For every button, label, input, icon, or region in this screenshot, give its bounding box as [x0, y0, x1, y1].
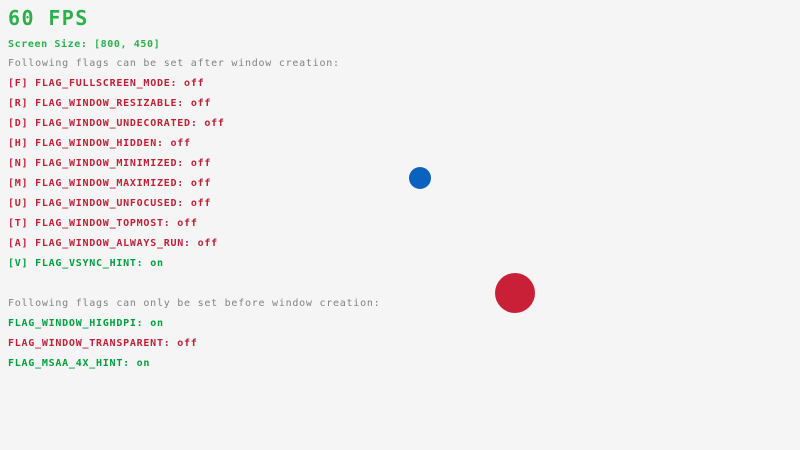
flag-key: [N]	[8, 158, 35, 169]
flag-value: off	[177, 338, 197, 349]
flag-key: [D]	[8, 118, 35, 129]
flag-name: FLAG_FULLSCREEN_MODE:	[35, 78, 184, 89]
flag-value: off	[184, 78, 204, 89]
flag-name: FLAG_WINDOW_TRANSPARENT:	[8, 338, 177, 349]
flag-name: FLAG_WINDOW_HIGHDPI:	[8, 318, 150, 329]
flag-row[interactable]: [M] FLAG_WINDOW_MAXIMIZED: off	[8, 179, 211, 189]
flag-row[interactable]: [R] FLAG_WINDOW_RESIZABLE: off	[8, 99, 211, 109]
flag-row[interactable]: [A] FLAG_WINDOW_ALWAYS_RUN: off	[8, 239, 218, 249]
flag-name: FLAG_WINDOW_RESIZABLE:	[35, 98, 191, 109]
flag-value: off	[177, 218, 197, 229]
flag-name: FLAG_WINDOW_UNDECORATED:	[35, 118, 204, 129]
flag-key: [R]	[8, 98, 35, 109]
fps-counter: 60 FPS	[8, 8, 89, 28]
flag-row[interactable]: [U] FLAG_WINDOW_UNFOCUSED: off	[8, 199, 211, 209]
flag-row[interactable]: [D] FLAG_WINDOW_UNDECORATED: off	[8, 119, 225, 129]
flag-value: off	[198, 238, 218, 249]
flag-value: off	[204, 118, 224, 129]
flag-key: [V]	[8, 258, 35, 269]
flag-value: on	[150, 318, 164, 329]
flag-name: FLAG_WINDOW_UNFOCUSED:	[35, 198, 191, 209]
flag-value: off	[191, 158, 211, 169]
flag-value: off	[191, 198, 211, 209]
flag-value: off	[171, 138, 191, 149]
flag-row[interactable]: [N] FLAG_WINDOW_MINIMIZED: off	[8, 159, 211, 169]
flag-key: [U]	[8, 198, 35, 209]
flag-name: FLAG_WINDOW_MAXIMIZED:	[35, 178, 191, 189]
red-ball-shape	[495, 273, 535, 313]
runtime-flags-heading: Following flags can be set after window …	[8, 59, 340, 69]
flag-name: FLAG_WINDOW_HIDDEN:	[35, 138, 170, 149]
flag-name: FLAG_WINDOW_MINIMIZED:	[35, 158, 191, 169]
flag-key: [M]	[8, 178, 35, 189]
blue-ball-shape	[409, 167, 431, 189]
flag-name: FLAG_WINDOW_ALWAYS_RUN:	[35, 238, 198, 249]
flag-key: [T]	[8, 218, 35, 229]
flag-name: FLAG_VSYNC_HINT:	[35, 258, 150, 269]
flag-row[interactable]: FLAG_WINDOW_HIGHDPI: on	[8, 319, 164, 329]
flag-row[interactable]: [F] FLAG_FULLSCREEN_MODE: off	[8, 79, 204, 89]
flag-value: on	[137, 358, 151, 369]
flag-value: off	[191, 98, 211, 109]
flag-row[interactable]: [T] FLAG_WINDOW_TOPMOST: off	[8, 219, 198, 229]
creation-flags-heading: Following flags can only be set before w…	[8, 299, 380, 309]
flag-key: [A]	[8, 238, 35, 249]
raylib-window-canvas: 60 FPS Screen Size: [800, 450] Following…	[0, 0, 800, 450]
screen-size-label: Screen Size: [800, 450]	[8, 40, 160, 50]
flag-name: FLAG_MSAA_4X_HINT:	[8, 358, 137, 369]
flag-row[interactable]: FLAG_WINDOW_TRANSPARENT: off	[8, 339, 198, 349]
flag-key: [F]	[8, 78, 35, 89]
flag-value: on	[150, 258, 164, 269]
flag-value: off	[191, 178, 211, 189]
flag-key: [H]	[8, 138, 35, 149]
flag-name: FLAG_WINDOW_TOPMOST:	[35, 218, 177, 229]
flag-row[interactable]: [V] FLAG_VSYNC_HINT: on	[8, 259, 164, 269]
flag-row[interactable]: FLAG_MSAA_4X_HINT: on	[8, 359, 150, 369]
flag-row[interactable]: [H] FLAG_WINDOW_HIDDEN: off	[8, 139, 191, 149]
